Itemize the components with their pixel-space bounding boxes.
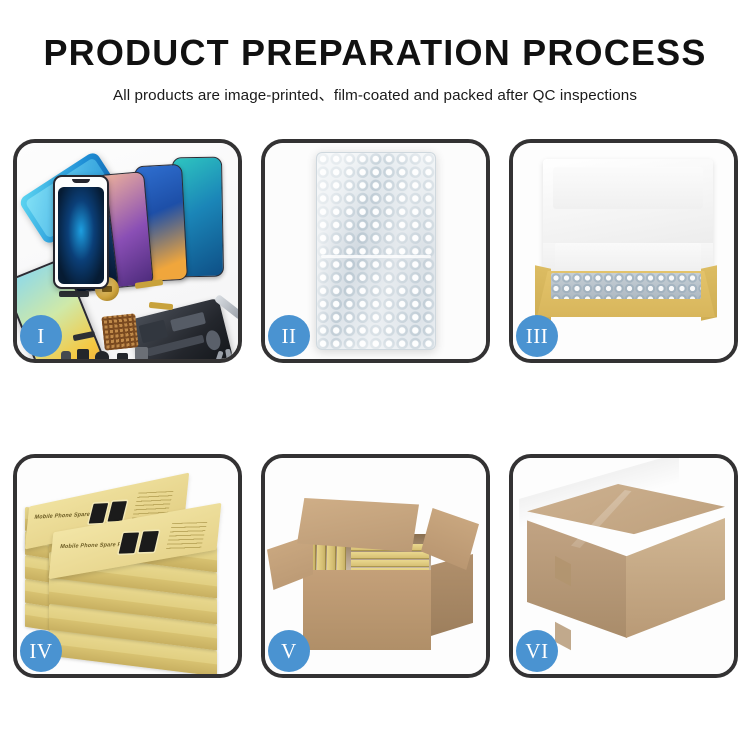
carton-right-face: [626, 518, 725, 638]
notch-icon: [72, 179, 90, 183]
small-component-icon: [77, 349, 89, 359]
component-bar-icon: [59, 291, 89, 297]
speaker-grille-icon: [101, 313, 138, 350]
foam-padding-front: [555, 243, 701, 275]
step-panel-6: VI: [509, 454, 738, 678]
lcd-print-icon: [138, 531, 158, 552]
phone-screen-fan: [67, 157, 237, 292]
small-component-icon: [61, 351, 71, 359]
step-badge-1: I: [20, 315, 62, 357]
lcd-print-icon: [89, 503, 109, 524]
step-panel-5: V: [261, 454, 490, 678]
step-badge-3: III: [516, 315, 558, 357]
step-badge-2: II: [268, 315, 310, 357]
screws-icon: [217, 349, 238, 359]
step-badge-4: IV: [20, 630, 62, 672]
step-panel-4: Mobile Phone Spare Parts Mobile Phone Sp…: [13, 454, 242, 678]
bubble-wrapped-contents: [551, 273, 701, 299]
white-phone-screen-icon: [53, 175, 109, 289]
process-steps-grid: I II III: [13, 139, 737, 678]
open-inner-box: [535, 159, 717, 329]
lcd-print-icon: [119, 532, 139, 553]
step-panel-3: III: [509, 139, 738, 363]
page-title: PRODUCT PREPARATION PROCESS: [0, 34, 750, 72]
flex-cable-icon: [149, 302, 173, 310]
carton-flap-back: [297, 498, 419, 552]
bubble-wrap-seam: [321, 255, 431, 258]
carton-left-face: [527, 518, 627, 638]
bubble-wrap-icon: [316, 152, 436, 350]
step-badge-5: V: [268, 630, 310, 672]
spec-lines: [166, 522, 207, 550]
step-panel-2: II: [261, 139, 490, 363]
step-badge-6: VI: [516, 630, 558, 672]
product-preparation-infographic: PRODUCT PREPARATION PROCESS All products…: [0, 0, 750, 750]
open-shipping-carton: [281, 494, 473, 654]
page-subtitle: All products are image-printed、film-coat…: [0, 83, 750, 105]
carton-front-face: [303, 570, 431, 650]
step-panel-1: I: [13, 139, 242, 363]
sealed-shipping-carton: [527, 484, 725, 650]
lcd-print-icon: [107, 501, 127, 522]
header: PRODUCT PREPARATION PROCESS All products…: [0, 0, 750, 105]
small-component-icon: [135, 347, 148, 359]
small-component-icon: [95, 351, 109, 359]
small-component-icon: [117, 353, 128, 359]
stacked-boxes: Mobile Phone Spare Parts Mobile Phone Sp…: [25, 482, 235, 657]
